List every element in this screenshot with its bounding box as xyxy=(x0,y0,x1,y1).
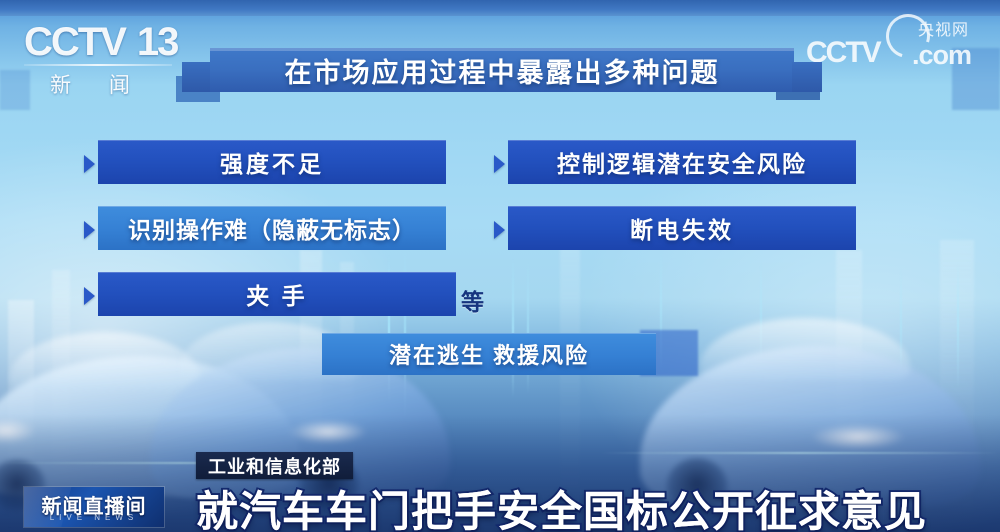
issue-item-recognition: 识别操作难（隐蔽无标志） xyxy=(98,206,446,250)
watermark-cn: 央视网 xyxy=(918,16,969,40)
light-streak xyxy=(957,260,959,390)
issue-item-power-failure: 断电失效 xyxy=(508,206,856,250)
bullet-arrow-icon xyxy=(84,287,95,305)
program-name-en: LIVE NEWS xyxy=(24,513,164,522)
bullet-arrow-icon xyxy=(84,155,95,173)
bullet-arrow-icon xyxy=(84,221,95,239)
issue-suffix-etc: 等 xyxy=(461,283,484,317)
issue-label: 强度不足 xyxy=(220,145,324,179)
issue-item-escape-rescue: 潜在逃生 救援风险 xyxy=(322,333,656,375)
channel-logo-row: CCTV 13 xyxy=(24,22,174,62)
bullet-arrow-icon xyxy=(494,155,505,173)
channel-number: 13 xyxy=(137,22,178,62)
issue-label: 夹 手 xyxy=(246,277,307,311)
channel-logo: CCTV 13 新 闻 xyxy=(24,22,174,100)
slash-icon xyxy=(125,26,136,58)
issue-label: 断电失效 xyxy=(630,211,734,245)
network-wordmark: CCTV xyxy=(24,22,125,62)
broadcast-screenshot: CCTV 13 新 闻 CCTV .com 央视网 在市场应用过程中暴露出多种问… xyxy=(0,0,1000,532)
issue-item-strength: 强度不足 xyxy=(98,140,446,184)
source-label: 工业和信息化部 xyxy=(208,453,341,479)
issue-label: 潜在逃生 救援风险 xyxy=(389,338,589,370)
page-title: 在市场应用过程中暴露出多种问题 xyxy=(210,48,794,92)
light-streak xyxy=(512,258,514,398)
headline-title-bar: 在市场应用过程中暴露出多种问题 xyxy=(182,48,822,100)
site-watermark: CCTV .com 央视网 xyxy=(806,14,982,70)
source-badge: 工业和信息化部 xyxy=(196,452,353,479)
issue-item-pinch-hand: 夹 手 xyxy=(98,272,456,316)
news-headline: 就汽车车门把手安全国标公开征求意见 xyxy=(196,478,927,532)
title-bar-left-cap xyxy=(182,62,212,92)
logo-divider xyxy=(24,64,172,66)
program-logo: 新闻直播间 LIVE NEWS xyxy=(24,487,164,527)
issue-label: 控制逻辑潜在安全风险 xyxy=(557,145,807,179)
title-bar-right-cap xyxy=(792,62,822,92)
issue-label: 识别操作难（隐蔽无标志） xyxy=(128,211,416,245)
channel-name-cn: 新 闻 xyxy=(24,69,172,99)
bullet-arrow-icon xyxy=(494,221,505,239)
issue-item-control-logic: 控制逻辑潜在安全风险 xyxy=(508,140,856,184)
watermark-dotcom: .com xyxy=(912,40,971,71)
